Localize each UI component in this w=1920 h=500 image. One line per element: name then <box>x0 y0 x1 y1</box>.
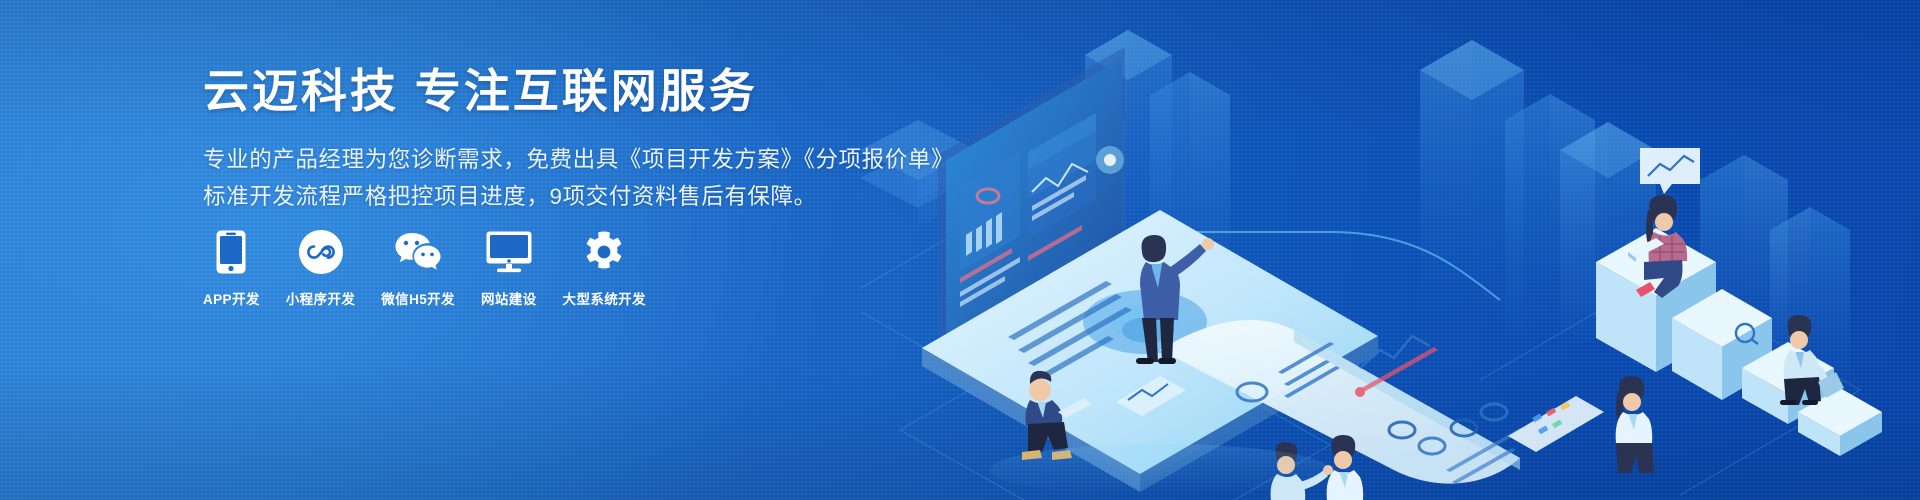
service-label: APP开发 <box>203 288 260 308</box>
service-item-mini-program[interactable]: 小程序开发 <box>286 228 356 308</box>
service-item-wechat-h5[interactable]: 微信H5开发 <box>381 228 455 308</box>
service-item-website[interactable]: 网站建设 <box>481 228 537 308</box>
desktop-monitor-icon <box>485 228 533 276</box>
banner-subtitle: 专业的产品经理为您诊断需求，免费出具《项目开发方案》《分项报价单》 标准开发流程… <box>203 142 1083 215</box>
promo-banner: 云迈科技 专注互联网服务 专业的产品经理为您诊断需求，免费出具《项目开发方案》《… <box>0 0 1920 500</box>
service-item-large-system[interactable]: 大型系统开发 <box>563 228 646 308</box>
mini-program-icon <box>297 228 345 276</box>
service-label: 微信H5开发 <box>381 288 455 308</box>
service-label: 大型系统开发 <box>563 288 646 308</box>
subtitle-line-1: 专业的产品经理为您诊断需求，免费出具《项目开发方案》《分项报价单》 <box>203 142 1083 178</box>
service-label: 小程序开发 <box>286 288 356 308</box>
subtitle-line-2: 标准开发流程严格把控项目进度，9项交付资料售后有保障。 <box>203 179 1083 215</box>
gear-icon <box>580 228 628 276</box>
mobile-phone-icon <box>207 228 255 276</box>
service-item-app[interactable]: APP开发 <box>203 228 260 308</box>
service-label: 网站建设 <box>481 288 537 308</box>
banner-text-block: 云迈科技 专注互联网服务 专业的产品经理为您诊断需求，免费出具《项目开发方案》《… <box>203 64 1083 215</box>
service-icon-row: APP开发 小程序开发 <box>203 228 646 308</box>
page-title: 云迈科技 专注互联网服务 <box>203 64 1083 118</box>
wechat-icon <box>394 228 442 276</box>
